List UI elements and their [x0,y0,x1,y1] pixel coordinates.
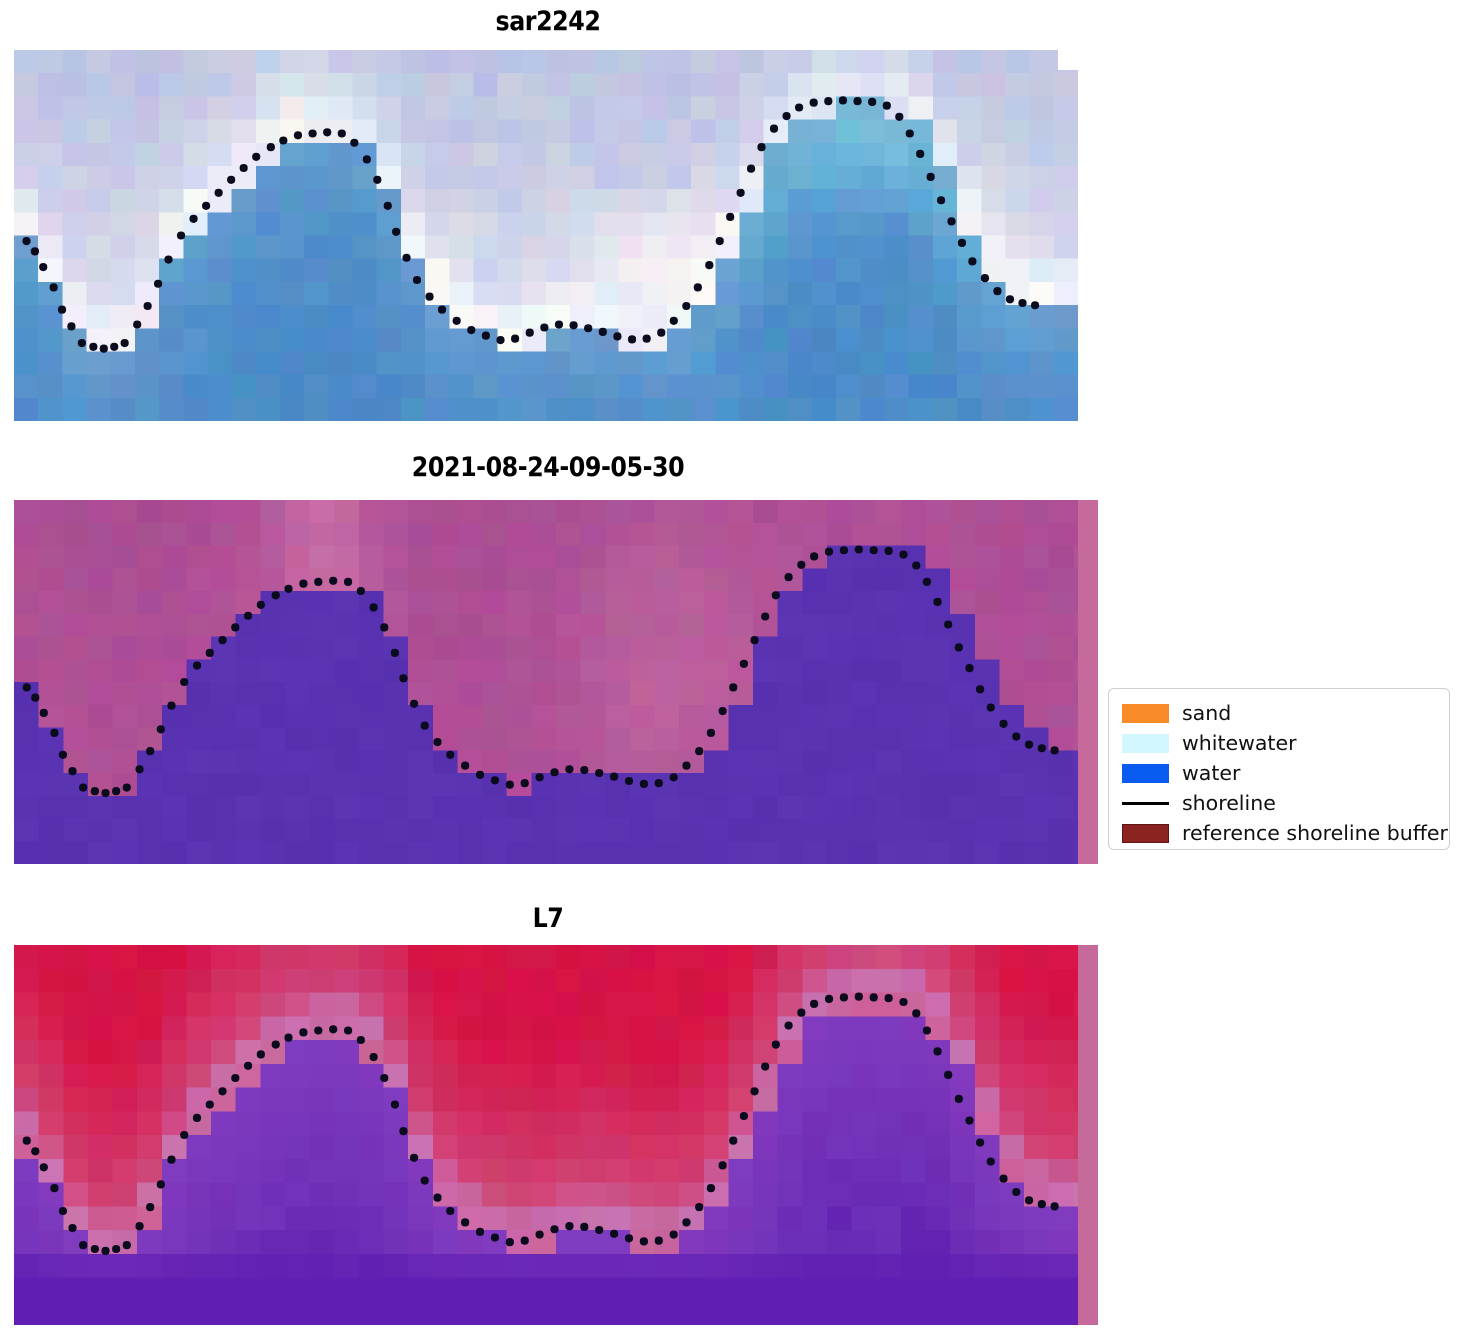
figure-canvas: sar2242 2021-08-24-09-05-30 L7 sand whit… [0,0,1468,1337]
legend-item-shoreline[interactable]: shoreline [1122,788,1439,818]
legend-item-reference-buffer[interactable]: reference shoreline buffer [1122,818,1439,848]
image-panel-index[interactable] [14,945,1098,1325]
legend-item-sand[interactable]: sand [1122,698,1439,728]
legend: sand whitewater water shoreline referenc… [1108,688,1450,850]
image-panel-rgb[interactable] [14,50,1078,421]
legend-label-sand: sand [1182,701,1231,725]
shoreline-overlay [14,50,1078,421]
shoreline-line-icon [1122,802,1169,805]
shoreline-overlay [14,500,1098,864]
legend-item-whitewater[interactable]: whitewater [1122,728,1439,758]
reference-buffer-swatch [1122,824,1169,843]
legend-label-reference-buffer: reference shoreline buffer [1182,821,1448,845]
legend-label-water: water [1182,761,1240,785]
sand-swatch [1122,704,1169,723]
image-panel-classified[interactable] [14,500,1098,864]
legend-label-shoreline: shoreline [1182,791,1276,815]
panel-title-sar2242: sar2242 [66,6,1030,37]
panel-title-l7: L7 [66,903,1030,934]
water-swatch [1122,764,1169,783]
legend-item-water[interactable]: water [1122,758,1439,788]
panel-corner-notch [1058,50,1078,70]
panel-title-date: 2021-08-24-09-05-30 [66,452,1030,483]
shoreline-overlay [14,945,1098,1325]
legend-label-whitewater: whitewater [1182,731,1297,755]
whitewater-swatch [1122,734,1169,753]
